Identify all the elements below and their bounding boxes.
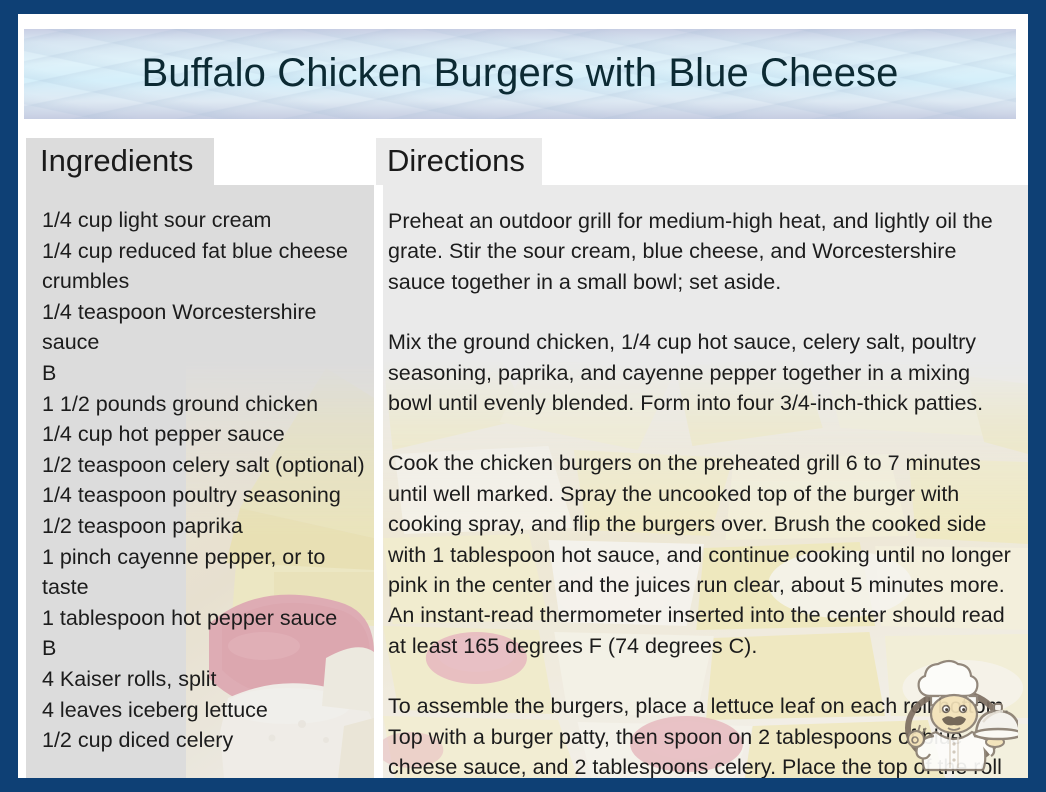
ingredient-item: 1 pinch cayenne pepper, or to taste	[42, 542, 366, 603]
ingredient-item: 1/2 cup diced celery	[42, 725, 366, 756]
page-title: Buffalo Chicken Burgers with Blue Cheese	[24, 52, 1016, 94]
ingredient-item: 4 Kaiser rolls, split	[42, 664, 366, 695]
title-banner: Buffalo Chicken Burgers with Blue Cheese	[24, 29, 1016, 119]
ingredient-group-marker: B	[42, 358, 366, 389]
recipe-page: Buffalo Chicken Burgers with Blue Cheese…	[18, 14, 1028, 778]
ingredient-item: 1/2 teaspoon celery salt (optional)	[42, 450, 366, 481]
ingredient-item: 1/4 cup reduced fat blue cheese crumbles	[42, 236, 366, 297]
directions-panel: Preheat an outdoor grill for medium-high…	[383, 185, 1028, 778]
ingredient-item: 1/2 teaspoon paprika	[42, 511, 366, 542]
ingredient-group-marker: B	[42, 633, 366, 664]
ingredient-item: 1/4 teaspoon poultry seasoning	[42, 480, 366, 511]
ingredient-item: 1/4 teaspoon Worcestershire sauce	[42, 297, 366, 358]
chef-mascot-logo	[890, 656, 1018, 774]
direction-step: Mix the ground chicken, 1/4 cup hot sauc…	[388, 327, 1012, 418]
direction-step: Cook the chicken burgers on the preheate…	[388, 448, 1012, 661]
ingredients-panel: 1/4 cup light sour cream 1/4 cup reduced…	[26, 185, 374, 778]
recipe-card: Buffalo Chicken Burgers with Blue Cheese…	[0, 0, 1046, 792]
ingredient-item: 1 tablespoon hot pepper sauce	[42, 603, 366, 634]
ingredient-item: 1/4 cup light sour cream	[42, 205, 366, 236]
ingredients-list: 1/4 cup light sour cream 1/4 cup reduced…	[42, 205, 366, 756]
section-heading-directions: Directions	[376, 138, 542, 185]
direction-step: Preheat an outdoor grill for medium-high…	[388, 206, 1012, 297]
ingredient-item: 1/4 cup hot pepper sauce	[42, 419, 366, 450]
ingredient-item: 1 1/2 pounds ground chicken	[42, 389, 366, 420]
ingredient-item: 4 leaves iceberg lettuce	[42, 695, 366, 726]
section-heading-ingredients: Ingredients	[26, 138, 214, 185]
